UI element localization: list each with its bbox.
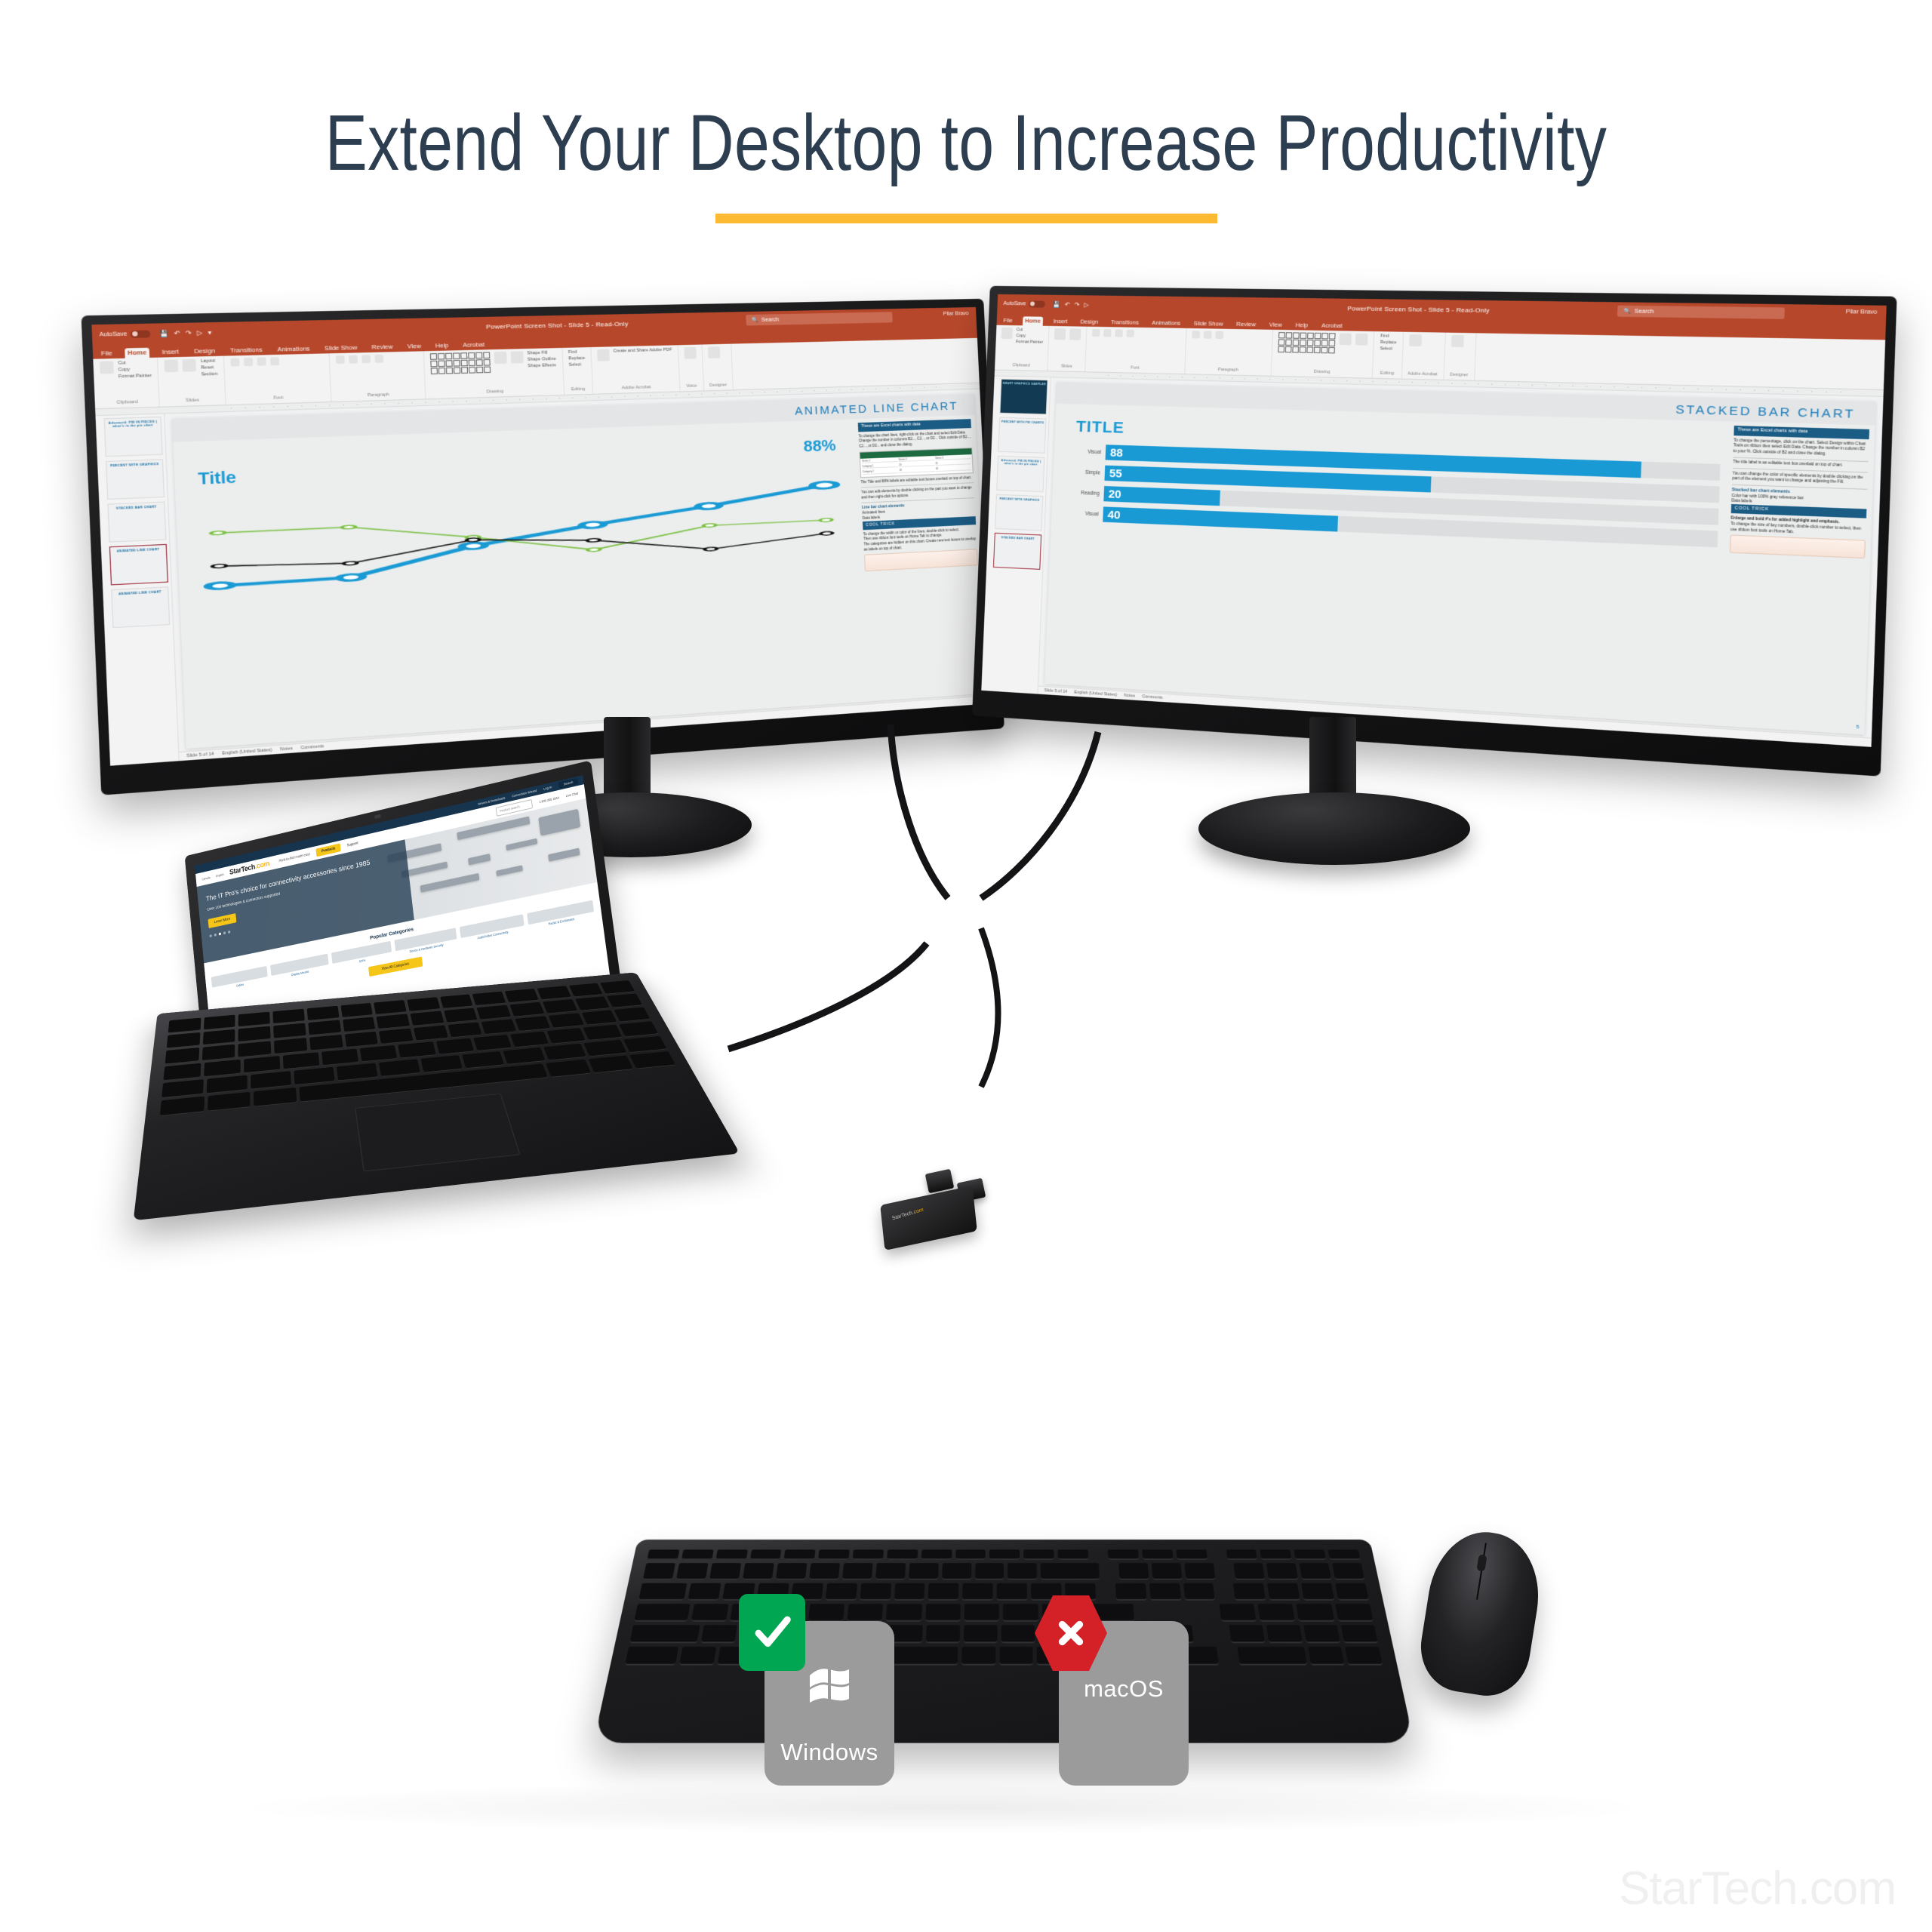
thumb-title: SMART GRAPHICS SAMPLER <box>1001 382 1047 386</box>
notes-paragraph: To change the chart lines, right-click o… <box>858 430 972 450</box>
slide-thumbnail[interactable]: 1 SMART GRAPHICS SAMPLER <box>999 379 1048 415</box>
title-accent-rule <box>715 214 1217 223</box>
adapter-brand-suffix: .com <box>912 1207 924 1216</box>
bar-fill: 40 <box>1103 506 1338 531</box>
right-monitor-bezel: AutoSave 💾 ↶ ↷ ▷ PowerPoint Screen Shot … <box>972 286 1897 777</box>
arrange-icon[interactable] <box>494 352 506 364</box>
ribbon-group-designer[interactable]: Designer <box>1444 333 1476 380</box>
logo-suffix: .com <box>254 860 269 871</box>
slide-thumbnail[interactable]: 3 Advanced: PIE IN PIECES | what's in th… <box>996 456 1044 492</box>
watermark-text: StarTech <box>1619 1863 1798 1915</box>
ribbon-group-font[interactable]: Font <box>1085 327 1187 374</box>
save-icon[interactable]: 💾 <box>159 329 168 337</box>
autosave-toggle-right[interactable]: AutoSave <box>1003 300 1045 307</box>
adobe-pdf-icon[interactable] <box>597 349 610 361</box>
live-chat-link[interactable]: Live Chat <box>565 791 578 797</box>
bar-label: Visual <box>1072 510 1103 517</box>
tab-insert[interactable]: Insert <box>159 347 182 358</box>
thumb-title: Advanced: PIE IN PIECES | what's in the … <box>105 420 161 428</box>
bar-fill: 20 <box>1103 486 1220 506</box>
quick-styles-icon[interactable] <box>1355 334 1368 346</box>
tab-insert[interactable]: Insert <box>1051 317 1070 326</box>
slide-title: ANIMATED LINE CHART <box>795 400 958 418</box>
carousel-dot[interactable] <box>223 931 226 934</box>
slide-thumbnail[interactable]: 2 PERCENT WITH PIE CHARTS <box>998 417 1046 454</box>
hero-cta-button[interactable]: Learn More <box>208 913 237 928</box>
left-monitor: AutoSave 💾 ↶ ↷ ▷ ▾ PowerPoint Screen Sho… <box>82 299 1004 795</box>
tab-design[interactable]: Design <box>1078 317 1100 327</box>
select-label[interactable]: Select <box>568 362 585 368</box>
left-monitor-screen: AutoSave 💾 ↶ ↷ ▷ ▾ PowerPoint Screen Sho… <box>91 307 995 766</box>
new-slide-icon[interactable] <box>1054 328 1066 340</box>
ribbon-group-acrobat[interactable]: Adobe Acrobat <box>1401 332 1445 380</box>
design-ideas-icon[interactable] <box>1451 335 1463 347</box>
cable-to-laptop <box>728 943 927 1049</box>
ribbon-group-slides[interactable]: Slides <box>1048 326 1088 371</box>
thumb-title: PERCENT WITH GRAPHICS <box>106 463 162 468</box>
bar-value: 20 <box>1108 488 1121 501</box>
notes-paragraph: You can change the color of specific ele… <box>1732 471 1868 487</box>
slide-canvas-left[interactable]: ANIMATED LINE CHART Title 88% <box>165 389 995 761</box>
comments-button[interactable]: Comments <box>1142 694 1163 700</box>
cable-left-monitor <box>891 724 948 898</box>
carousel-prev-icon[interactable] <box>210 934 212 937</box>
account-name-right[interactable]: Pilar Bravo <box>1846 309 1878 315</box>
ribbon-group-designer[interactable]: Designer <box>702 344 734 391</box>
tab-review[interactable]: Review <box>369 342 395 352</box>
tab-home[interactable]: Home <box>125 348 149 358</box>
bar-label: Visual <box>1075 449 1106 455</box>
webcam-icon <box>374 814 381 819</box>
tab-transitions[interactable]: Transitions <box>227 345 265 355</box>
bar-label: Simple <box>1074 469 1105 476</box>
cable-trailing <box>981 928 998 1087</box>
left-monitor-bezel: AutoSave 💾 ↶ ↷ ▷ ▾ PowerPoint Screen Sho… <box>82 299 1004 795</box>
autosave-pill-icon <box>1029 300 1045 307</box>
chart-annotation-title: Title <box>198 468 237 489</box>
login-link[interactable]: Log In <box>543 786 552 791</box>
laptop-trackpad[interactable] <box>355 1094 521 1172</box>
right-monitor-screen: AutoSave 💾 ↶ ↷ ▷ PowerPoint Screen Shot … <box>981 294 1886 747</box>
autosave-pill-icon <box>131 330 151 337</box>
product-marketing-image: Extend Your Desktop to Increase Producti… <box>0 0 1932 1932</box>
right-monitor: AutoSave 💾 ↶ ↷ ▷ PowerPoint Screen Shot … <box>972 286 1897 777</box>
windows-logo-icon <box>808 1665 851 1704</box>
ppt-body-right: 1 SMART GRAPHICS SAMPLER 2 PERCENT WITH … <box>981 377 1883 747</box>
excel-cell: 34 <box>936 466 971 472</box>
phone-number[interactable]: 1 800 265 1844 <box>539 795 559 804</box>
notes-paragraph: To change the percentage, click on the c… <box>1733 438 1869 458</box>
ribbon-group-paragraph[interactable]: Paragraph <box>329 351 426 401</box>
format-painter-label[interactable]: Format Painter <box>118 374 152 380</box>
nav-support-link[interactable]: Support <box>346 841 358 848</box>
ribbon-group-paragraph[interactable]: Paragraph <box>1186 328 1274 376</box>
notes-button[interactable]: Notes <box>1124 694 1135 699</box>
tab-acrobat[interactable]: Acrobat <box>460 340 488 351</box>
desk-scene: AutoSave 💾 ↶ ↷ ▷ ▾ PowerPoint Screen Sho… <box>0 264 1932 1547</box>
line-chart[interactable]: Title 88% <box>173 419 868 749</box>
redo-icon[interactable]: ↷ <box>1075 301 1080 308</box>
tab-design[interactable]: Design <box>191 346 217 357</box>
replace-label[interactable]: Replace <box>568 356 585 361</box>
bar-value: 88 <box>1110 446 1124 460</box>
thumb-title: Advanced: PIE IN PIECES | what's in the … <box>998 459 1044 466</box>
group-label-designer: Designer <box>709 383 727 388</box>
tab-help[interactable]: Help <box>1293 321 1310 331</box>
quick-styles-icon[interactable] <box>510 351 523 363</box>
bar-list: Visual 88 <box>1059 443 1721 547</box>
reset-label[interactable]: Reset <box>201 365 217 371</box>
slide-canvas-right[interactable]: STACKED BAR CHART TITLE Visual <box>1038 377 1883 747</box>
windows-label: Windows <box>780 1739 878 1766</box>
slide-number: 5 <box>1856 724 1859 732</box>
shape-outline-label[interactable]: Shape Outline <box>528 357 556 362</box>
slide-content: Title 88% <box>173 415 989 749</box>
adapter-brand-text: StarTech <box>892 1211 913 1222</box>
slide-thumbnail[interactable]: 4 PERCENT WITH GRAPHICS <box>995 494 1043 531</box>
slide-content: TITLE Visual 88 <box>1044 404 1875 735</box>
notes-panel-left: These are Excel charts with data To chan… <box>854 415 988 701</box>
present-icon[interactable]: ▷ <box>1084 301 1089 308</box>
group-label-editing: Editing <box>570 387 586 392</box>
slide-thumbnail-selected[interactable]: 6 ANIMATED LINE CHART <box>109 544 168 586</box>
language-selector[interactable]: English <box>216 872 224 878</box>
line-chart-svg <box>195 479 849 595</box>
tab-slide-show[interactable]: Slide Show <box>321 343 360 353</box>
adapter-brand-logo: StarTech.com <box>892 1207 924 1222</box>
redo-icon[interactable]: ↷ <box>186 329 192 337</box>
ribbon-group-clipboard[interactable]: CutCopyFormat Painter Clipboard <box>995 325 1050 371</box>
check-icon <box>739 1594 805 1671</box>
tab-view[interactable]: View <box>1266 320 1284 330</box>
paste-icon[interactable] <box>100 361 114 374</box>
bar-value: 40 <box>1107 508 1121 521</box>
bar-value: 55 <box>1109 466 1123 480</box>
slide-thumbnail[interactable]: 3 Advanced: PIE IN PIECES | what's in th… <box>104 417 163 457</box>
notes-header: These are Excel charts with data <box>858 419 971 432</box>
slide-thumbnail-selected[interactable]: 5 STACKED BAR CHART <box>993 533 1041 570</box>
carousel-dot-active[interactable] <box>219 933 221 936</box>
checkmark-glyph <box>752 1612 792 1653</box>
group-label-acrobat: Adobe Acrobat <box>598 384 674 391</box>
powerpoint-window-right: AutoSave 💾 ↶ ↷ ▷ PowerPoint Screen Shot … <box>981 294 1886 747</box>
present-icon[interactable]: ▷ <box>197 329 203 337</box>
autosave-label: AutoSave <box>100 331 128 338</box>
shape-gallery-icon[interactable] <box>430 352 491 374</box>
powerpoint-window-left: AutoSave 💾 ↶ ↷ ▷ ▾ PowerPoint Screen Sho… <box>91 307 995 766</box>
watermark-suffix: .com <box>1798 1863 1896 1915</box>
account-name-left[interactable]: Pilar Bravo <box>943 311 969 317</box>
tab-file[interactable]: File <box>1001 316 1014 325</box>
ribbon-group-drawing[interactable]: Shape Fill Shape Outline Shape Effects D… <box>424 348 565 398</box>
notes-header: These are Excel charts with data <box>1734 426 1869 439</box>
ribbon-screenshot <box>864 549 978 572</box>
region-selector[interactable]: Canada <box>202 875 210 881</box>
excel-cell: 18 <box>899 468 934 473</box>
ribbon-group-slides[interactable]: Layout Reset Section Slides <box>158 356 226 407</box>
ribbon-group-acrobat[interactable]: Create and Share Adobe PDF Adobe Acrobat <box>591 345 680 394</box>
ribbon-group-editing[interactable]: Find Replace Select Editing <box>562 347 593 395</box>
quick-access-toolbar-right[interactable]: 💾 ↶ ↷ ▷ <box>1053 300 1089 308</box>
ppt-body-left: 3 Advanced: PIE IN PIECES | what's in th… <box>96 389 995 766</box>
number-key-row[interactable] <box>643 1563 1364 1580</box>
shape-fill-label[interactable]: Shape Fill <box>527 350 555 355</box>
chevron-down-icon[interactable]: ▾ <box>208 328 211 336</box>
shape-effects-label[interactable]: Shape Effects <box>528 363 556 368</box>
slide-thumbnail[interactable]: 5 STACKED BAR CHART <box>107 501 166 542</box>
find-label[interactable]: Find <box>568 349 585 355</box>
excel-screenshot: Series 1Series 2Series 3 Category 12025 … <box>860 448 974 478</box>
laptop-deck <box>134 972 740 1220</box>
adapter-body: StarTech.com <box>880 1186 977 1251</box>
tab-review[interactable]: Review <box>1234 320 1258 330</box>
slide-thumbnail[interactable]: 7 ANIMATED LINE CHART <box>111 586 170 628</box>
notes-panel-right: These are Excel charts with data To chan… <box>1720 421 1875 734</box>
ribbon-group-editing[interactable]: FindReplaceSelect Editing <box>1373 331 1403 379</box>
thumb-title: ANIMATED LINE CHART <box>112 590 168 596</box>
tab-transitions[interactable]: Transitions <box>1109 318 1141 328</box>
tab-home[interactable]: Home <box>1023 316 1043 325</box>
slide-counter: Slide 5 of 14 <box>1044 688 1067 694</box>
shape-gallery-icon[interactable] <box>1278 332 1336 353</box>
tab-acrobat[interactable]: Acrobat <box>1319 321 1345 331</box>
thumb-title: PERCENT WITH PIE CHARTS <box>1000 420 1045 425</box>
right-monitor-base <box>1198 792 1470 865</box>
group-label-font: Font <box>232 395 325 402</box>
thumb-title: STACKED BAR CHART <box>109 505 165 510</box>
bar-chart[interactable]: TITLE Visual 88 <box>1044 404 1730 726</box>
cable-right-monitor <box>981 732 1098 898</box>
layout-label[interactable]: Layout <box>201 358 217 364</box>
slide-thumbnail[interactable]: 4 PERCENT WITH GRAPHICS <box>106 459 165 500</box>
tab-file[interactable]: File <box>98 349 115 359</box>
undo-icon[interactable]: ↶ <box>1065 301 1070 308</box>
copy-label[interactable]: Copy <box>118 367 152 373</box>
reuse-slides-icon[interactable] <box>183 359 197 372</box>
thumb-title: STACKED BAR CHART <box>995 536 1041 541</box>
arrange-icon[interactable] <box>1340 333 1352 345</box>
design-ideas-icon[interactable] <box>708 346 720 358</box>
search-placeholder: Search <box>1635 309 1654 315</box>
thumb-title: ANIMATED LINE CHART <box>110 547 166 553</box>
tab-animations[interactable]: Animations <box>1149 318 1183 328</box>
tab-slide-show[interactable]: Slide Show <box>1191 319 1226 329</box>
category-label[interactable]: Cables <box>236 983 245 987</box>
group-label-slides: Slides <box>166 398 219 405</box>
paste-icon[interactable] <box>1001 328 1013 339</box>
new-slide-icon[interactable] <box>165 359 179 372</box>
search-icon: 🔍 <box>1623 308 1631 315</box>
microphone-icon[interactable] <box>684 347 697 359</box>
slide-animated-line-chart[interactable]: ANIMATED LINE CHART Title 88% <box>172 394 989 749</box>
chart-annotation-percent: 88% <box>803 437 836 457</box>
cut-label[interactable]: Cut <box>118 360 151 366</box>
bar-label: Reading <box>1073 490 1104 497</box>
brand-watermark: StarTech.com <box>1619 1862 1896 1915</box>
floor-shadow <box>226 1781 1660 1834</box>
os-compatibility-row: Windows macOS <box>0 1600 1932 1751</box>
section-label[interactable]: Section <box>201 372 217 377</box>
os-badge-macos: macOS <box>1038 1600 1189 1751</box>
carousel-dot[interactable] <box>214 934 217 937</box>
macos-label: macOS <box>1084 1675 1164 1703</box>
quick-access-toolbar-left[interactable]: 💾 ↶ ↷ ▷ ▾ <box>159 328 211 337</box>
search-placeholder: Search <box>761 317 779 323</box>
autosave-label: AutoSave <box>1003 300 1026 306</box>
group-label-clipboard: Clipboard <box>101 399 152 406</box>
ribbon-group-font[interactable]: Font <box>224 353 332 405</box>
slide-title: STACKED BAR CHART <box>1675 403 1856 422</box>
save-icon[interactable]: 💾 <box>1053 300 1060 307</box>
cross-glyph <box>1052 1614 1090 1652</box>
tab-animations[interactable]: Animations <box>275 344 313 355</box>
page-title: Extend Your Desktop to Increase Producti… <box>193 102 1739 185</box>
function-key-row[interactable] <box>647 1549 1360 1560</box>
category-label[interactable]: SFPs <box>358 958 365 963</box>
ribbon-group-voice[interactable]: Voice <box>678 345 704 392</box>
ribbon-group-drawing[interactable]: Drawing <box>1272 330 1375 378</box>
carousel-pause-icon[interactable] <box>228 931 230 934</box>
laptop: Drivers & Downloads Connection Wizard Lo… <box>140 747 683 1291</box>
slide-stacked-bar-chart[interactable]: STACKED BAR CHART TITLE Visual <box>1044 383 1876 735</box>
group-label-paragraph: Paragraph <box>337 392 419 399</box>
thumb-title: PERCENT WITH GRAPHICS <box>997 497 1042 502</box>
autosave-toggle-left[interactable]: AutoSave <box>99 330 150 338</box>
group-label-voice: Voice <box>685 383 697 389</box>
undo-icon[interactable]: ↶ <box>174 329 180 337</box>
adobe-pdf-icon[interactable] <box>1409 334 1422 346</box>
os-badge-windows: Windows <box>743 1600 894 1751</box>
search-box-right[interactable]: 🔍 Search <box>1617 306 1785 319</box>
excel-cell: Category 2 <box>863 469 899 475</box>
reuse-slides-icon[interactable] <box>1069 328 1081 340</box>
create-share-pdf-label[interactable]: Create and Share Adobe PDF <box>613 348 672 354</box>
tab-help[interactable]: Help <box>432 341 451 351</box>
usb-video-adapter[interactable]: StarTech.com <box>866 1161 1017 1266</box>
ribbon-screenshot <box>1730 535 1866 559</box>
ribbon-group-clipboard[interactable]: Cut Copy Format Painter Clipboard <box>93 358 160 409</box>
search-icon: 🔍 <box>752 317 758 323</box>
tab-view[interactable]: View <box>405 341 424 351</box>
